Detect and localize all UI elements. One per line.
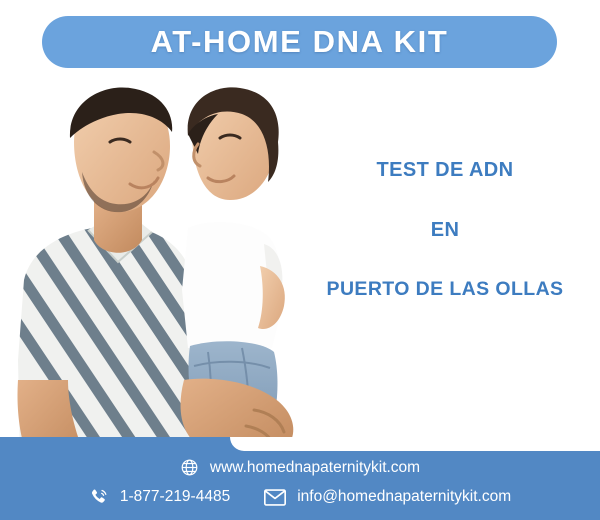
globe-icon <box>180 458 199 477</box>
footer-phone-label: 1-877-219-4485 <box>120 488 230 506</box>
promo-card: AT-HOME DNA KIT <box>0 0 600 520</box>
envelope-icon <box>264 489 286 506</box>
footer-email-label: info@homednapaternitykit.com <box>297 488 511 506</box>
footer-website-row: www.homednapaternitykit.com <box>0 458 600 477</box>
phone-icon <box>89 487 109 507</box>
footer-contact-row: 1-877-219-4485 info@homednapaternitykit.… <box>0 487 600 507</box>
footer-notch <box>230 437 600 451</box>
headline-line-location: PUERTO DE LAS OLLAS <box>295 280 595 300</box>
page-title: AT-HOME DNA KIT <box>151 24 449 60</box>
family-photo <box>2 80 322 458</box>
footer-website[interactable]: www.homednapaternitykit.com <box>180 458 420 477</box>
headline-block: TEST DE ADN EN PUERTO DE LAS OLLAS <box>295 160 595 300</box>
headline-line-preposition: EN <box>295 220 595 240</box>
header-banner: AT-HOME DNA KIT <box>42 16 557 68</box>
headline-line-service: TEST DE ADN <box>295 160 595 180</box>
footer-email[interactable]: info@homednapaternitykit.com <box>264 488 511 506</box>
footer-phone[interactable]: 1-877-219-4485 <box>89 487 230 507</box>
footer-website-label: www.homednapaternitykit.com <box>210 459 420 477</box>
